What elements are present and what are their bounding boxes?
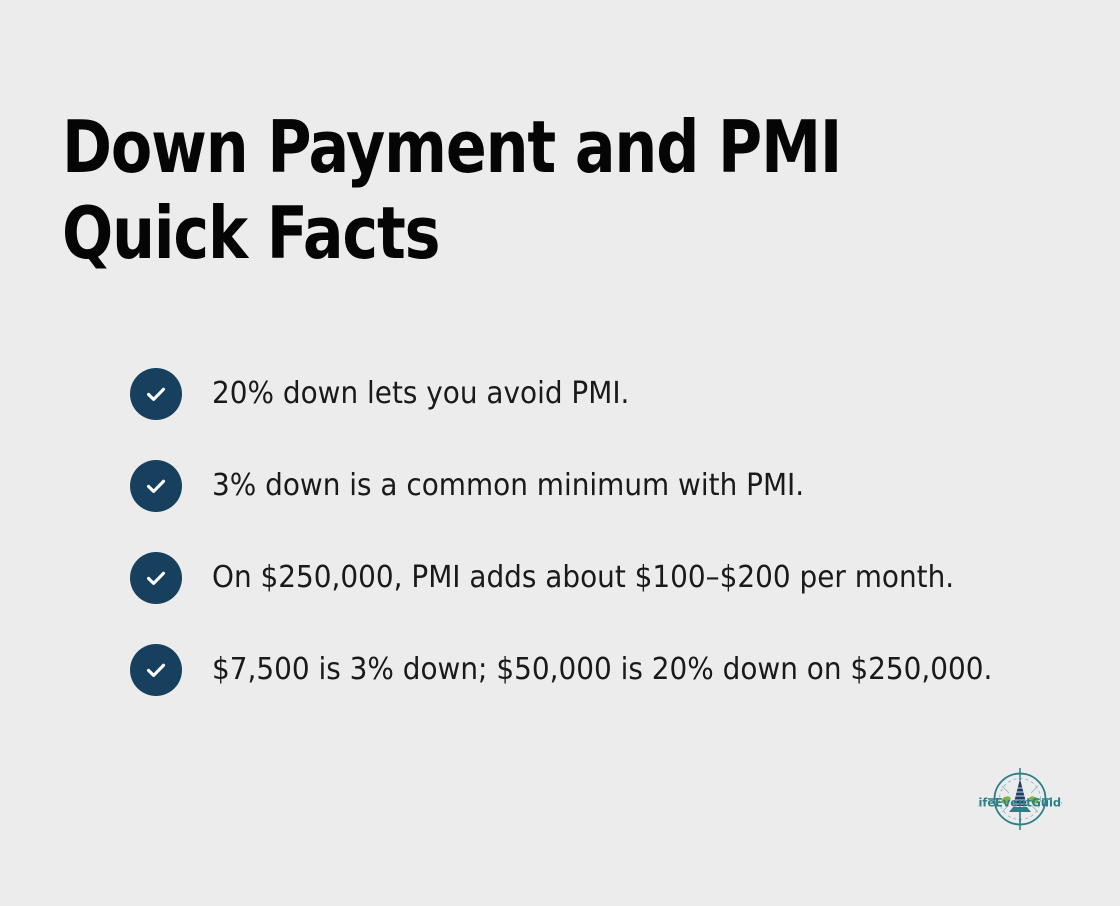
lifeeventguide-logo: LifeEventGuide xyxy=(978,766,1062,832)
check-circle-icon xyxy=(130,368,182,420)
check-circle-icon xyxy=(130,460,182,512)
list-item: 3% down is a common minimum with PMI. xyxy=(130,460,1070,512)
fact-text: 3% down is a common minimum with PMI. xyxy=(212,467,804,505)
facts-list: 20% down lets you avoid PMI. 3% down is … xyxy=(130,368,1070,696)
check-circle-icon xyxy=(130,552,182,604)
fact-text: 20% down lets you avoid PMI. xyxy=(212,375,629,413)
check-circle-icon xyxy=(130,644,182,696)
page-title: Down Payment and PMI Quick Facts xyxy=(62,104,983,276)
list-item: $7,500 is 3% down; $50,000 is 20% down o… xyxy=(130,644,1070,696)
fact-text: On $250,000, PMI adds about $100–$200 pe… xyxy=(212,559,954,597)
list-item: On $250,000, PMI adds about $100–$200 pe… xyxy=(130,552,1070,604)
slide-canvas: Down Payment and PMI Quick Facts 20% dow… xyxy=(0,0,1120,906)
fact-text: $7,500 is 3% down; $50,000 is 20% down o… xyxy=(212,651,992,689)
list-item: 20% down lets you avoid PMI. xyxy=(130,368,1070,420)
logo-wordmark: LifeEventGuide xyxy=(978,796,1062,810)
